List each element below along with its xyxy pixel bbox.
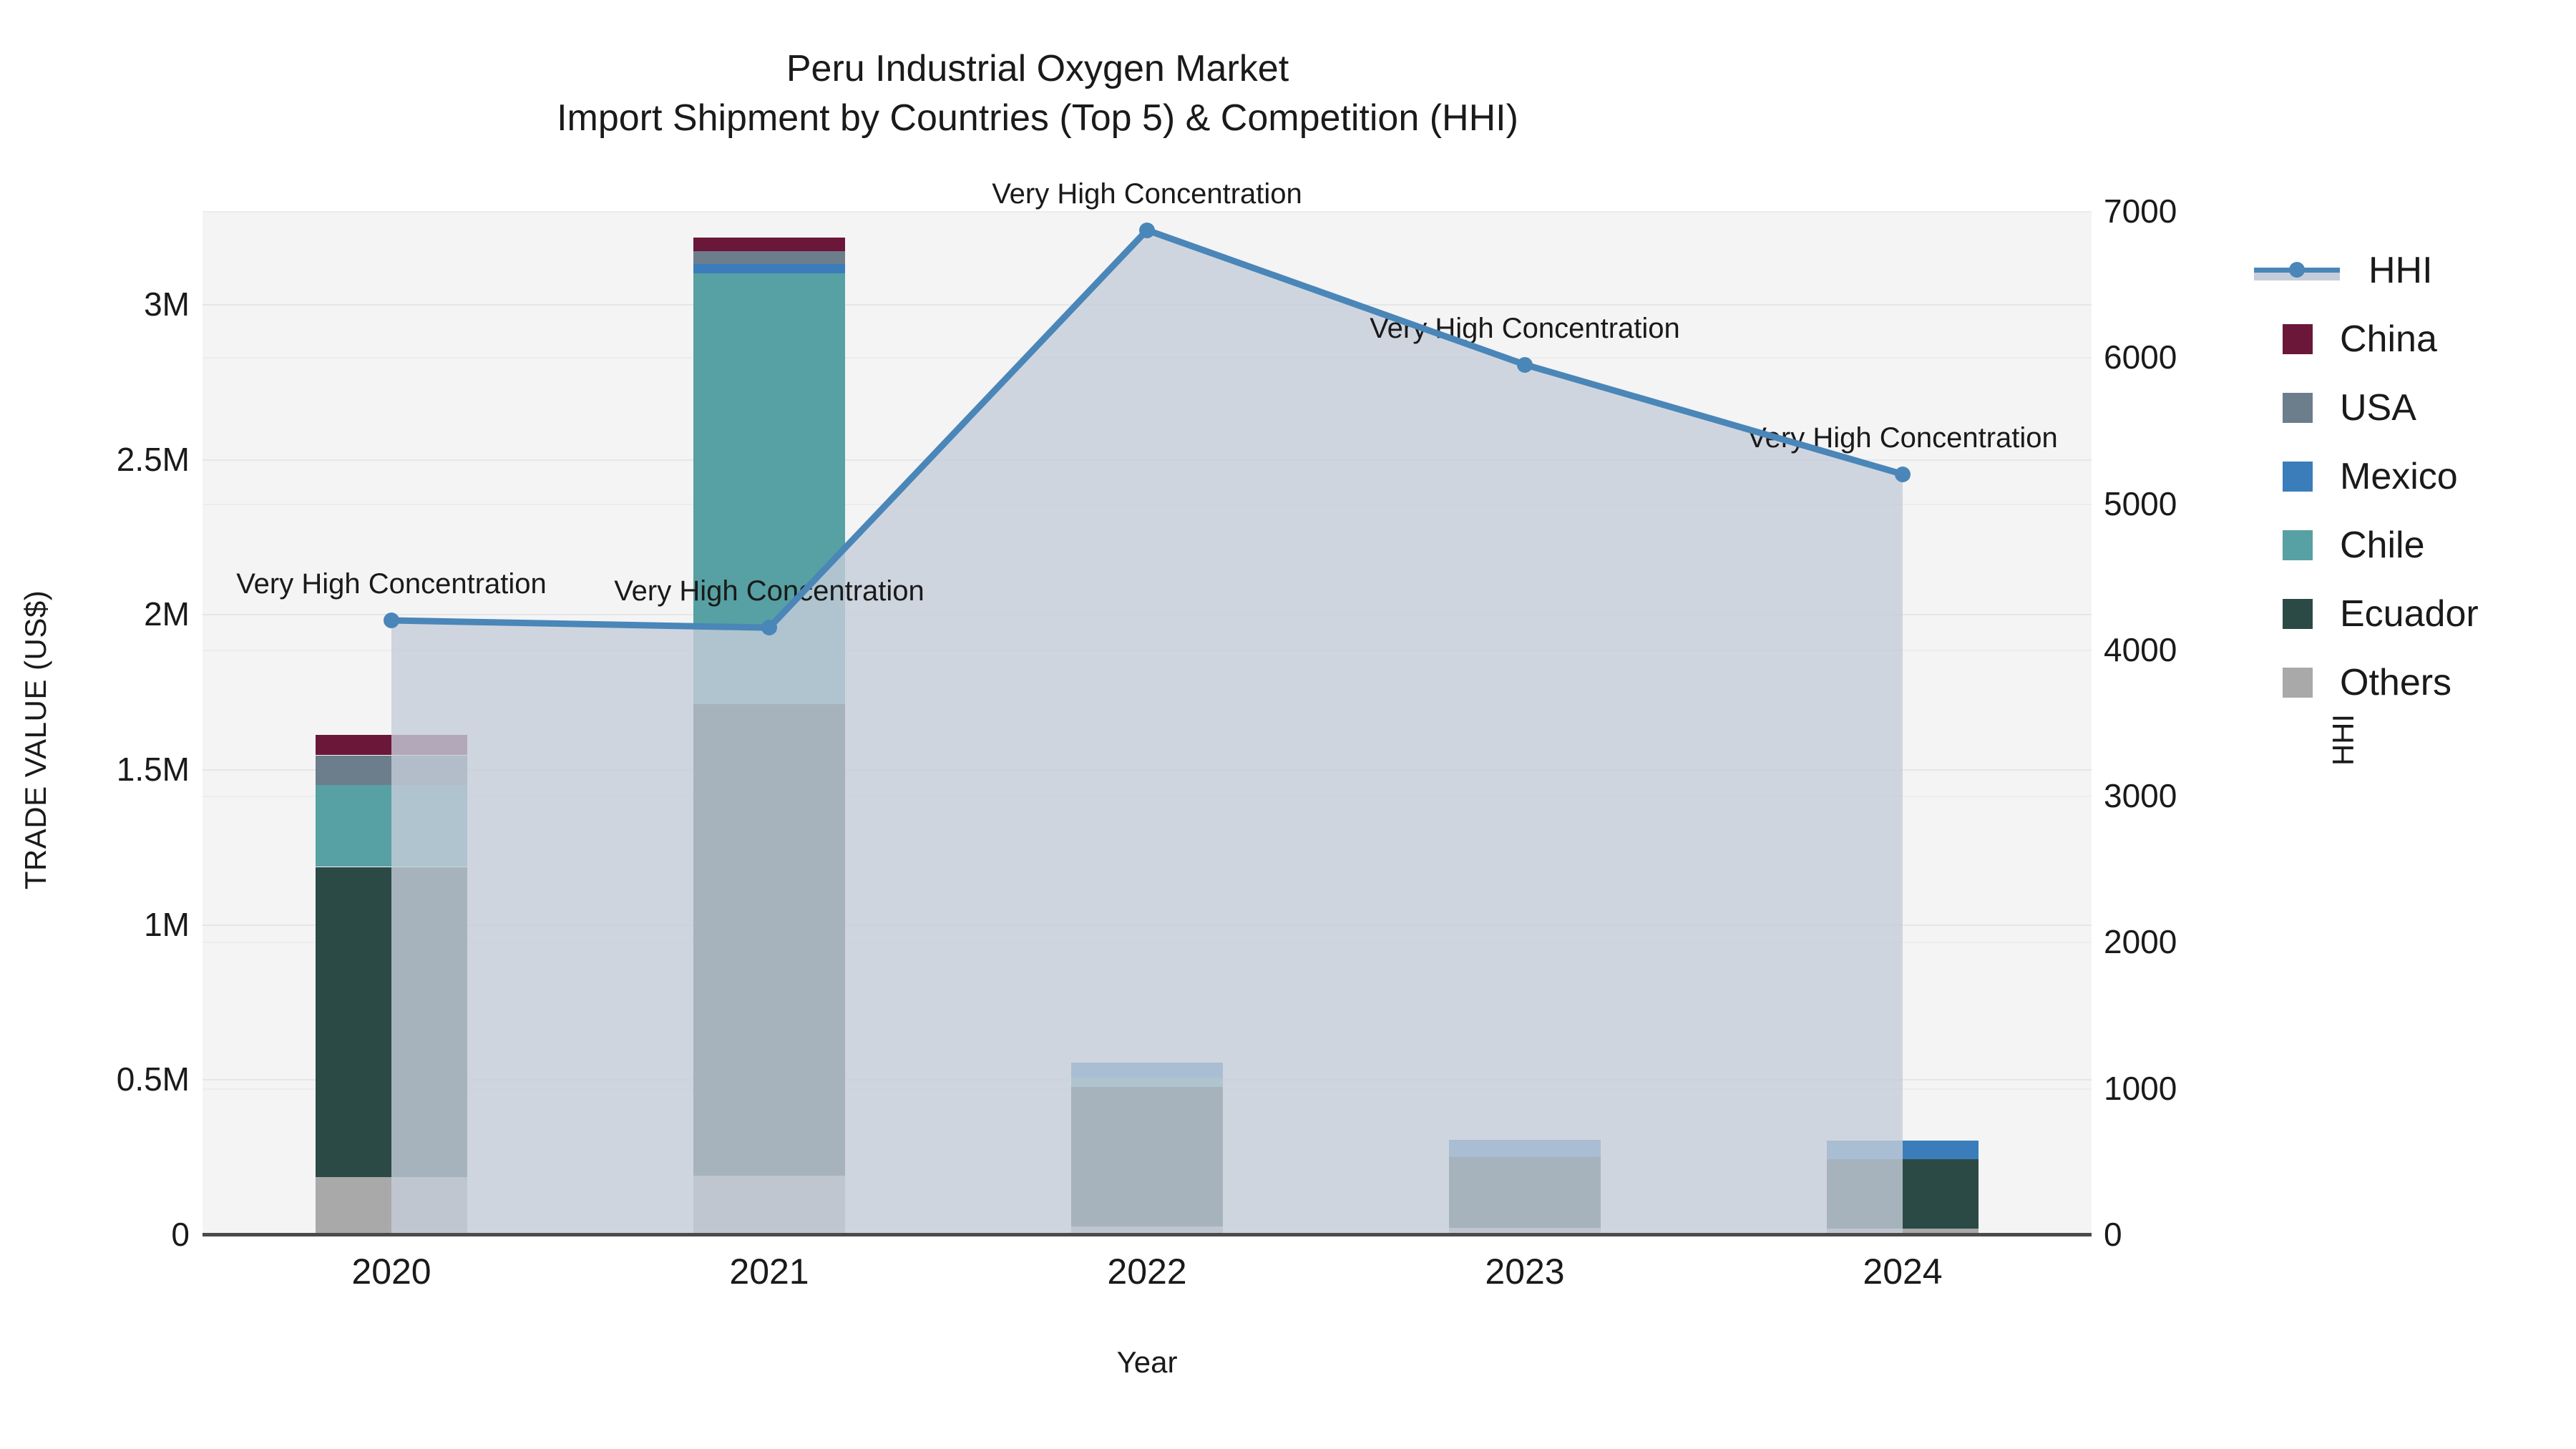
bar-segment-usa-2020[interactable] (316, 756, 467, 785)
y-axis-right-ticks: 01000200030004000500060007000 (2104, 0, 2318, 1449)
legend-swatch-ecuador-icon (2283, 599, 2313, 629)
gridline-y-right (203, 942, 2092, 943)
y-right-tick-6000: 6000 (2104, 338, 2177, 376)
chart-title-line-1: Peru Industrial Oxygen Market (0, 44, 2075, 94)
gridline-y-left (203, 769, 2092, 771)
legend-label-hhi: HHI (2368, 249, 2433, 292)
legend-item-chile[interactable]: Chile (2283, 511, 2569, 580)
legend-label-usa: USA (2340, 386, 2416, 429)
chart-title: Peru Industrial Oxygen Market Import Shi… (0, 44, 2075, 142)
y-right-tick-2000: 2000 (2104, 922, 2177, 961)
x-tick-2022: 2022 (1107, 1251, 1186, 1292)
y-right-tick-0: 0 (2104, 1215, 2122, 1254)
bar-segment-mexico-2024[interactable] (1827, 1141, 1979, 1159)
legend-swatch-china-icon (2283, 324, 2313, 354)
legend-line-icon (2254, 255, 2340, 286)
x-tick-2023: 2023 (1485, 1251, 1564, 1292)
legend-label-others: Others (2340, 661, 2451, 704)
bar-segment-mexico-2021[interactable] (693, 264, 845, 273)
x-axis-title: Year (203, 1345, 2092, 1380)
legend-swatch-usa-icon (2283, 393, 2313, 423)
y-right-tick-5000: 5000 (2104, 484, 2177, 523)
bar-segment-chile-2020[interactable] (316, 785, 467, 867)
bar-segment-ecuador-2023[interactable] (1449, 1157, 1601, 1229)
y-right-tick-4000: 4000 (2104, 630, 2177, 669)
legend-item-mexico[interactable]: Mexico (2283, 442, 2569, 511)
bar-segment-china-2020[interactable] (316, 735, 467, 755)
legend-swatch-others-icon (2283, 668, 2313, 698)
legend-item-china[interactable]: China (2283, 305, 2569, 374)
legend-item-hhi[interactable]: HHI (2283, 236, 2569, 305)
plot-area (203, 211, 2092, 1234)
bar-segment-chile-2022[interactable] (1071, 1078, 1223, 1087)
bar-segment-mexico-2023[interactable] (1449, 1140, 1601, 1157)
legend-label-chile: Chile (2340, 524, 2425, 567)
legend-item-usa[interactable]: USA (2283, 374, 2569, 442)
legend-label-mexico: Mexico (2340, 455, 2458, 498)
bar-segment-ecuador-2020[interactable] (316, 867, 467, 1177)
bar-segment-others-2021[interactable] (693, 1176, 845, 1234)
gridline-y-right (203, 357, 2092, 358)
legend-label-china: China (2340, 318, 2437, 361)
bar-segment-ecuador-2024[interactable] (1827, 1159, 1979, 1229)
gridline-y-right (203, 504, 2092, 505)
chart-title-line-2: Import Shipment by Countries (Top 5) & C… (0, 94, 2075, 143)
chart-root: Peru Industrial Oxygen Market Import Shi… (0, 0, 2576, 1449)
gridline-y-left (203, 459, 2092, 461)
legend-swatch-chile-icon (2283, 530, 2313, 560)
y-right-tick-1000: 1000 (2104, 1069, 2177, 1108)
gridline-y-left (203, 614, 2092, 615)
gridline-y-right (203, 650, 2092, 651)
gridline-y-right (203, 211, 2092, 213)
bar-segment-ecuador-2021[interactable] (693, 704, 845, 1176)
chart-legend: HHIChinaUSAMexicoChileEcuadorOthers (2283, 236, 2569, 717)
y-left-tick-0: 0 (11, 1215, 190, 1254)
legend-swatch-mexico-icon (2283, 462, 2313, 492)
legend-item-ecuador[interactable]: Ecuador (2283, 580, 2569, 648)
y-left-tick-3M: 3M (11, 285, 190, 323)
bar-segment-ecuador-2022[interactable] (1071, 1087, 1223, 1226)
legend-item-others[interactable]: Others (2283, 648, 2569, 717)
bar-segment-china-2021[interactable] (693, 238, 845, 252)
x-tick-2021: 2021 (729, 1251, 809, 1292)
y-right-tick-3000: 3000 (2104, 776, 2177, 815)
gridline-y-right (203, 796, 2092, 797)
y-left-tick-0.5M: 0.5M (11, 1060, 190, 1098)
bar-segment-usa-2021[interactable] (693, 251, 845, 263)
bar-segment-chile-2021[interactable] (693, 273, 845, 704)
bar-segment-mexico-2022[interactable] (1071, 1063, 1223, 1078)
x-tick-2020: 2020 (351, 1251, 431, 1292)
gridline-y-left (203, 924, 2092, 926)
y-axis-left-title: TRADE VALUE (US$) (19, 468, 53, 1012)
gridline-y-left (203, 304, 2092, 306)
y-right-tick-7000: 7000 (2104, 192, 2177, 230)
legend-label-ecuador: Ecuador (2340, 592, 2479, 635)
x-tick-2024: 2024 (1863, 1251, 1942, 1292)
bar-segment-others-2020[interactable] (316, 1177, 467, 1234)
hhi-annotation-2022: Very High Concentration (992, 178, 1302, 210)
x-axis-line (203, 1233, 2092, 1236)
